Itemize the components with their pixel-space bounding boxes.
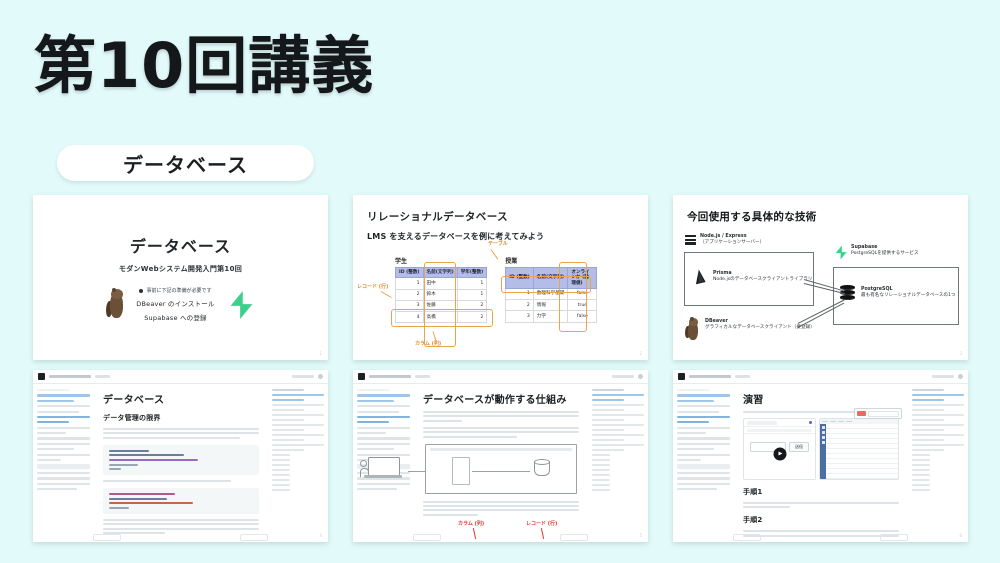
next-page-button[interactable] [240,534,268,541]
beaver-icon [685,317,701,341]
doc-paragraph-3 [103,519,259,534]
doc-main: データベース データ管理の限界 [94,384,268,533]
slide2-title: リレーショナルデータベース [367,209,636,224]
slide-thumbnail-mechanism-doc[interactable]: データベースが動作する仕組み [353,370,648,542]
nav-item-placeholder[interactable] [735,375,750,377]
header-action-placeholder[interactable] [292,375,314,377]
user-icon [360,460,366,476]
site-logo-icon [38,373,45,380]
td-s3-2: 2 [457,311,487,322]
td-c2-1: 力学 [533,311,568,322]
td-s3-1: 高橋 [423,311,457,322]
doc-paragraph-3 [423,501,579,516]
doc-heading: 演習 [743,391,899,406]
annotation-record: レコード (行) [526,520,557,527]
node-express-desc: （アプリケーションサーバー） [700,240,764,245]
annotation-table: テーブル [488,240,508,247]
td-s0-2: 1 [457,278,487,289]
supabase-label: Supabase PostgreSQLを提供するサービス [851,245,919,258]
td-s0-1: 田中 [423,278,457,289]
doc-body: データベースが動作する仕組み [353,384,648,533]
th-student-0: ID (整数) [396,268,424,278]
client-connector [408,471,426,472]
student-table: ID (整数) 名前(文字列) 学年(整数) 1 田中 1 2 鈴木 1 [395,267,487,323]
slide1-requirements: 事前に下記の準備が必要です DBeaver のインストール Supabase へ… [136,287,214,322]
code-block [103,445,259,475]
nav-item-placeholder[interactable] [95,375,110,377]
site-title-placeholder [49,375,91,377]
slide1-item-1: Supabase への登録 [144,312,207,322]
doc-toc[interactable] [268,384,328,533]
header-action-placeholder[interactable] [612,375,634,377]
td-s2-2: 2 [457,300,487,311]
slide1-subtitle: モダンWebシステム開発入門第10回 [119,264,242,274]
topic-badge: データベース [57,145,314,181]
client-laptop-icon [362,457,406,481]
th-student-2: 学年(整数) [457,268,487,278]
page-title: 第10回講義 [34,33,374,98]
slide3-title: 今回使用する具体的な技術 [687,209,956,224]
td-c2-2: false [568,311,597,322]
td-s1-1: 鈴木 [423,289,457,300]
next-page-button[interactable] [560,534,588,541]
slide-thumbnail-relational-db[interactable]: リレーショナルデータベース LMS を支えるデータベースを例に考えてみよう 学生… [353,195,648,360]
code-block-2 [103,488,259,514]
step-2-text [743,530,899,536]
doc-main: データベースが動作する仕組み [414,384,588,533]
postgres-desc: 最も有名なリレーショナルデータベースの1つ [861,293,955,298]
slide1-body: 事前に下記の準備が必要です DBeaver のインストール Supabase へ… [33,287,328,322]
td-s2-0: 3 [396,300,424,311]
doc-header [33,370,328,384]
slide-thumbnail-title[interactable]: データベース モダンWebシステム開発入門第10回 事前に下記の準備が必要です … [33,195,328,360]
doc-paragraph [423,411,579,422]
prev-page-button[interactable] [413,534,441,541]
play-button-icon[interactable] [773,447,786,460]
step-1-text [743,502,899,508]
td-s0-0: 1 [396,278,424,289]
ide-table-grid [826,424,898,479]
doc-sidebar[interactable] [673,384,734,533]
doc-toc[interactable] [908,384,968,533]
td-s2-1: 佐藤 [423,300,457,311]
slide2-page-number: 2 [639,351,642,356]
beaver-icon [106,288,128,322]
doc-paragraph-2 [103,480,259,482]
doc-main: 演習 [734,384,908,533]
url-field[interactable] [747,429,812,432]
slide5-page-number: 5 [639,533,642,538]
td-s3-0: 4 [396,311,424,322]
step-2-heading: 手順2 [743,515,899,525]
slide3-page-number: 3 [959,351,962,356]
avatar[interactable] [958,374,963,379]
td-c1-0: 2 [506,300,534,311]
table-row: 2 情報 true [506,300,597,311]
td-s1-2: 1 [457,289,487,300]
student-table-label: 学生 [395,256,487,265]
browser-address-bar [744,427,815,434]
slide-thumbnail-exercise-doc[interactable]: 演習 [673,370,968,542]
doc-toc[interactable] [588,384,648,533]
class-table-wrap: 授業 ID (整数) 名前(文字列) オンラインか (論理値) 1 数理科学基礎… [505,256,597,323]
td-c1-1: 情報 [533,300,568,311]
doc-body: 演習 [673,384,968,533]
nav-item-placeholder[interactable] [415,375,430,377]
supabase-logo [227,290,255,320]
header-action-placeholder[interactable] [932,375,954,377]
prisma-desc: Node.jsのデータベースクライアントライブラリ [713,277,812,282]
table-header-row: ID (整数) 名前(文字列) 学年(整数) [396,268,487,278]
ide-body [820,424,898,479]
table-row: 1 田中 1 [396,278,487,289]
doc-body: データベース データ管理の限界 [33,384,328,533]
table-header-row: ID (整数) 名前(文字列) オンラインか (論理値) [506,268,597,289]
diagram-title-bar [430,448,572,451]
app-server-node [452,457,470,485]
slide1-title: データベース [130,233,231,257]
architecture-diagram [425,444,577,494]
ide-popup [854,418,899,419]
topic-badge-label: データベース [123,149,248,178]
avatar[interactable] [318,374,323,379]
avatar[interactable] [638,374,643,379]
prisma-icon [693,269,708,286]
site-logo-icon [678,373,685,380]
th-class-2: オンラインか (論理値) [568,268,597,289]
supabase-logo [834,245,848,260]
student-table-wrap: 学生 ID (整数) 名前(文字列) 学年(整数) 1 田中 1 [395,256,487,323]
td-c0-0: 1 [506,288,534,299]
slide-thumbnail-database-doc[interactable]: データベース データ管理の限界 [33,370,328,542]
slide4-page-number: 4 [319,533,322,538]
annotation-column: カラム (列) [458,520,484,527]
td-c1-2: true [568,300,597,311]
diagram-connector [472,471,530,472]
class-table: ID (整数) 名前(文字列) オンラインか (論理値) 1 数理科学基礎 fa… [505,267,597,323]
doc-heading: データベース [103,391,259,406]
slide-overview-page: 第10回講義 データベース データベース モダンWebシステム開発入門第10回 … [0,0,1000,563]
browser-screenshot: 送信 [743,418,816,480]
doc-paragraph-2 [423,427,579,438]
th-student-1: 名前(文字列) [423,268,457,278]
slide2-tables: 学生 ID (整数) 名前(文字列) 学年(整数) 1 田中 1 [367,256,636,323]
doc-footer [33,533,328,542]
doc-paragraph [103,428,259,439]
server-icon [685,235,696,247]
send-button[interactable]: 送信 [789,442,809,452]
bullet-icon [139,289,143,293]
doc-header [353,370,648,384]
step-1-heading: 手順1 [743,487,899,497]
doc-header [673,370,968,384]
exercise-media: 送信 [743,418,899,480]
td-c2-0: 3 [506,311,534,322]
th-class-1: 名前(文字列) [533,268,568,289]
slide1-page-number: 1 [319,351,322,356]
site-title-placeholder [689,375,731,377]
slide6-page-number: 6 [959,533,962,538]
annotation-record: レコード (行) [357,283,388,290]
slide1-note: 事前に下記の準備が必要です [146,287,211,294]
table-row: 4 高橋 2 [396,311,487,322]
doc-sidebar[interactable] [33,384,94,533]
table-row: 3 佐藤 2 [396,300,487,311]
slide1-note-row: 事前に下記の準備が必要です [139,287,211,294]
doc-footer [353,533,648,542]
doc-heading: データベースが動作する仕組み [423,391,579,406]
slide-thumbnail-tech-stack[interactable]: 今回使用する具体的な技術 Node.js / Express （アプリケーション… [673,195,968,360]
doc-subheading: データ管理の限界 [103,413,259,423]
th-class-0: ID (整数) [506,268,534,289]
supabase-desc: PostgreSQLを提供するサービス [851,251,919,256]
annotation-column: カラム (列) [415,340,441,347]
database-node [534,459,548,477]
prev-page-button[interactable] [93,534,121,541]
site-title-placeholder [369,375,411,377]
browser-tab-bar [744,419,815,427]
class-table-label: 授業 [505,256,597,265]
slide-grid: データベース モダンWebシステム開発入門第10回 事前に下記の準備が必要です … [33,195,968,542]
table-row: 1 数理科学基礎 false [506,288,597,299]
td-c0-2: false [568,288,597,299]
postgres-label: PostgreSQL 最も有名なリレーショナルデータベースの1つ [861,287,955,300]
table-row: 2 鈴木 1 [396,289,487,300]
td-s1-0: 2 [396,289,424,300]
site-logo-icon [358,373,365,380]
profile-dot-icon [809,421,812,424]
ide-screenshot [819,418,899,480]
prisma-label: Prisma Node.jsのデータベースクライアントライブラリ [713,271,812,284]
node-express-label: Node.js / Express （アプリケーションサーバー） [700,234,764,247]
table-row: 3 力学 false [506,311,597,322]
td-c0-1: 数理科学基礎 [533,288,568,299]
slide1-item-0: DBeaver のインストール [136,298,214,308]
